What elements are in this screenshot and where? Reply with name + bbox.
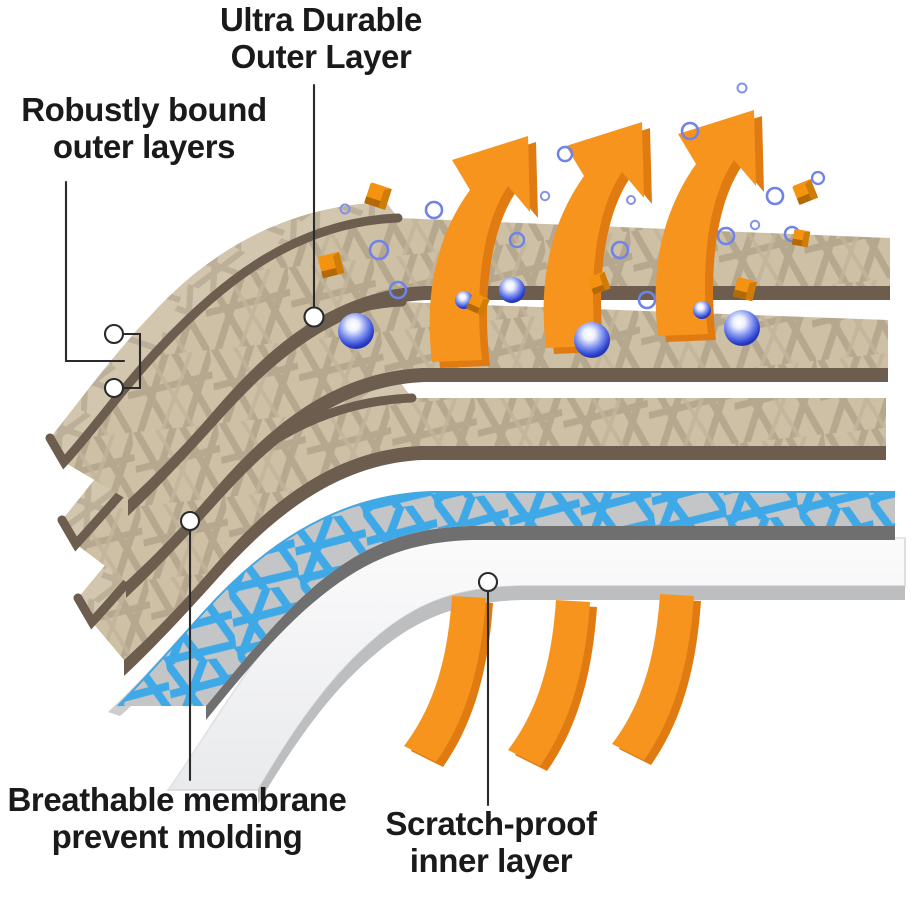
infographic-canvas: Ultra Durable Outer Layer Robustly bound… [0, 0, 916, 902]
anchor-breathable-membrane [181, 512, 199, 530]
anchor-ultra-durable [305, 308, 324, 327]
callout-label-scratch-proof-inner-layer: Scratch-proof inner layer [366, 806, 616, 880]
callout-label-robustly-bound-outer-layers: Robustly bound outer layers [4, 92, 284, 166]
dirt-cube [792, 229, 811, 248]
anchor-bound-lower [105, 379, 123, 397]
anchor-bound-upper [105, 325, 123, 343]
anchor-scratch-proof [479, 573, 497, 591]
callout-label-ultra-durable-outer-layer: Ultra Durable Outer Layer [196, 2, 446, 76]
callout-label-breathable-membrane: Breathable membrane prevent molding [2, 782, 352, 856]
